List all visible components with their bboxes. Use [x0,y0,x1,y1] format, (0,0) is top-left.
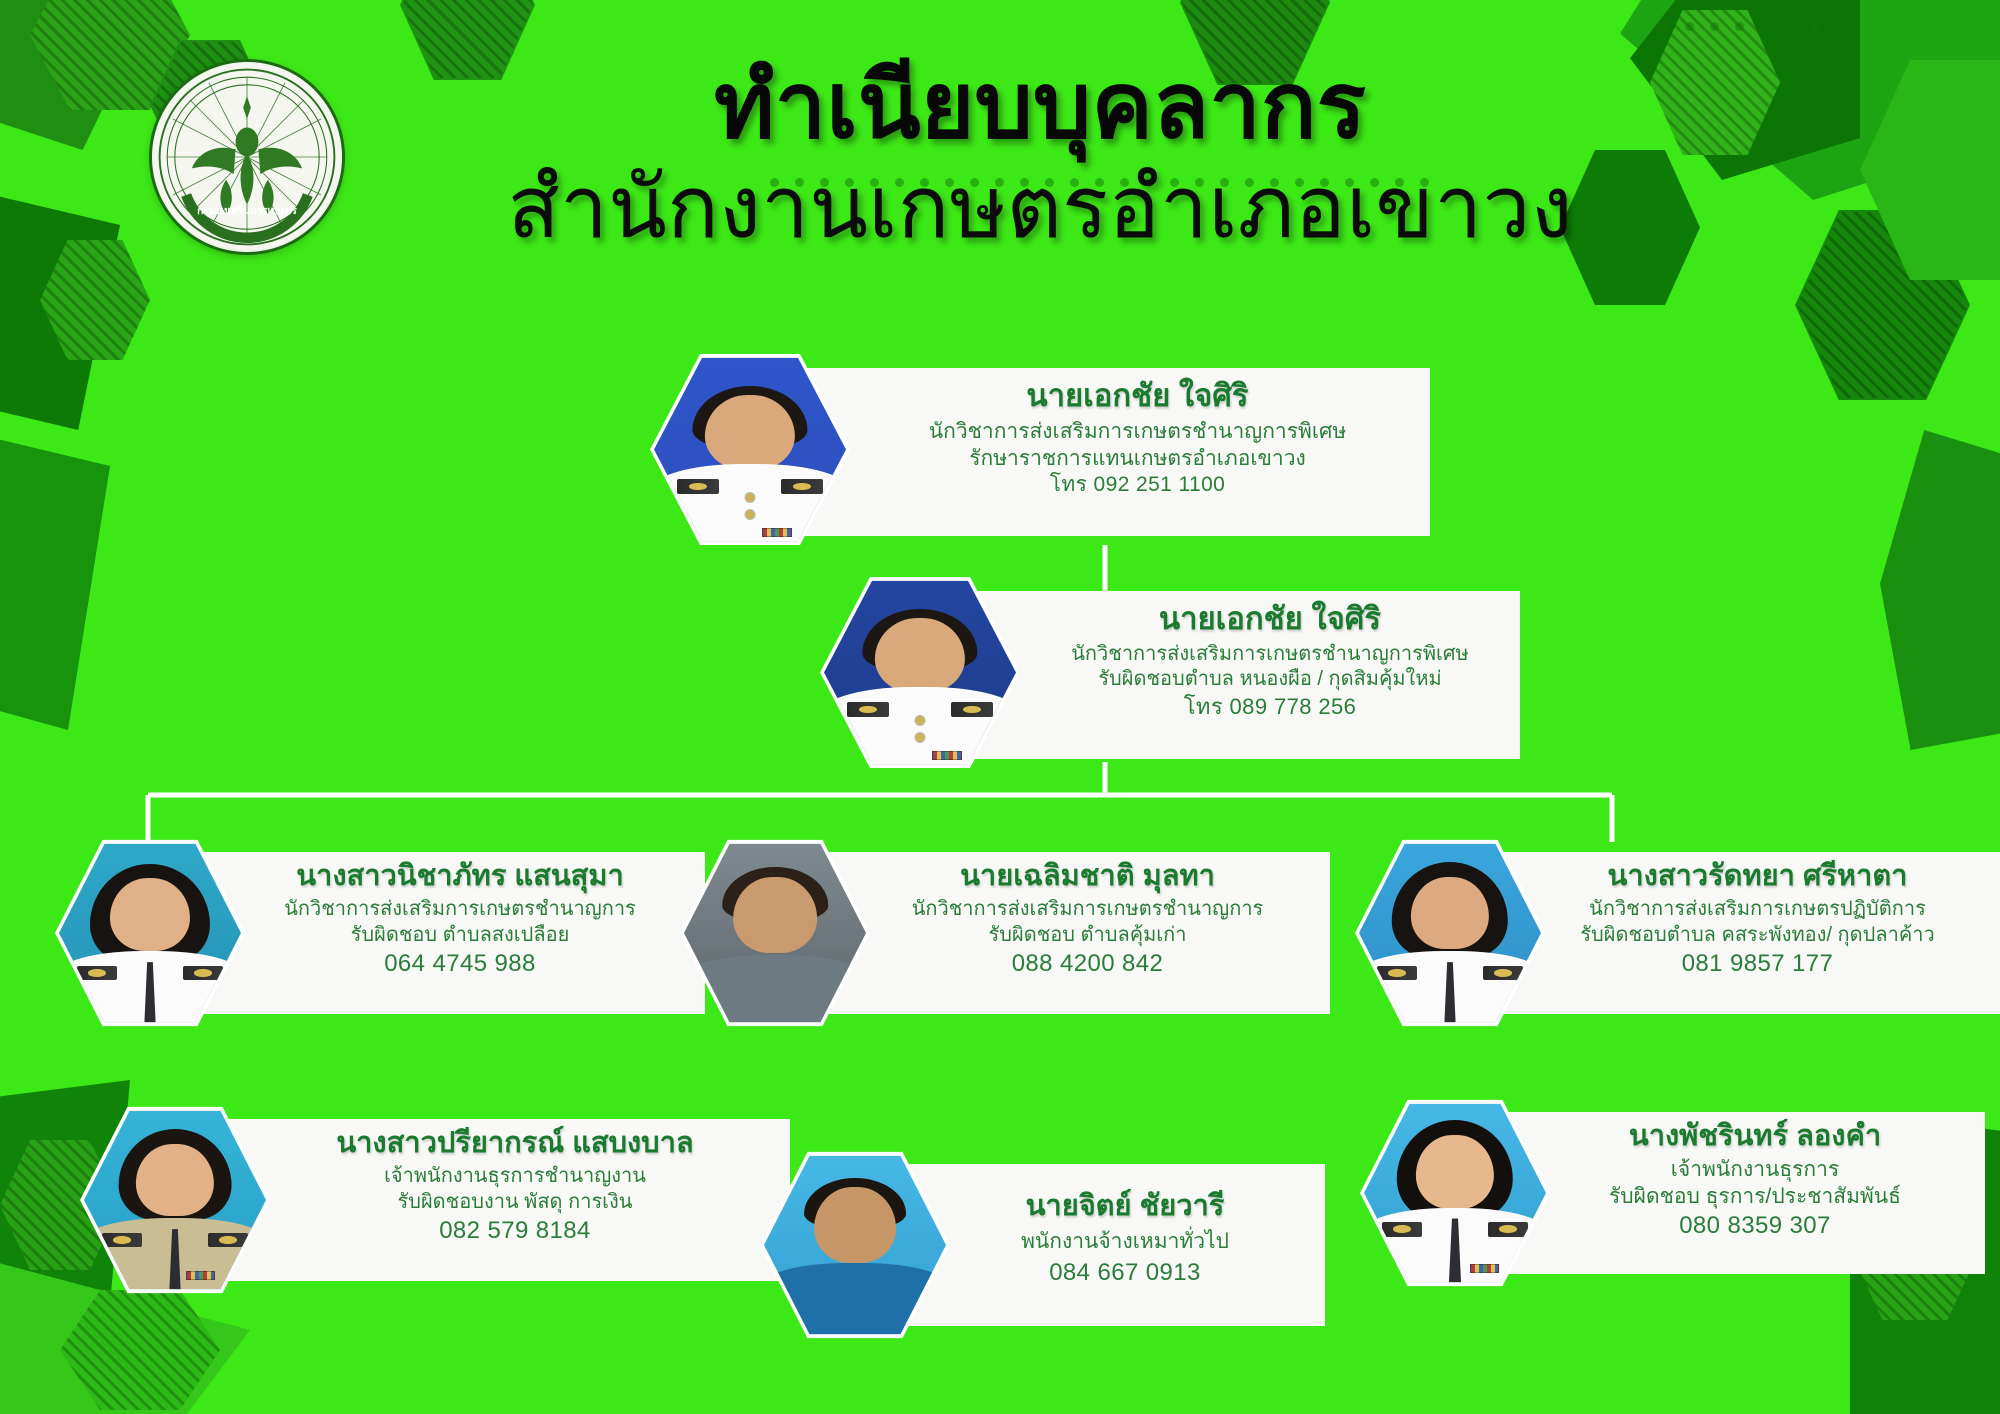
person-name: นางสาวปรียากรณ์ แสบงบาล [260,1127,770,1160]
person-area: รับผิดชอบ ตำบลคุ้มเก่า [860,923,1315,949]
person-name: นางสาวรัดทยา ศรีหาตา [1535,860,1980,893]
doae-emblem-icon: กรมส่งเสริมการเกษตร [152,62,342,252]
person-area: รับผิดชอบงาน พัสดุ การเงิน [260,1190,770,1216]
card-text: นายเฉลิมชาติ มุลทา นักวิชาการส่งเสริมการ… [860,860,1315,979]
person-phone: โทร 089 778 256 [1035,693,1505,721]
page-title: ทำเนียบบุคลากร [380,58,1700,155]
person-card-director[interactable]: นายเอกชัย ใจศิริ นักวิชาการส่งเสริมการเก… [650,352,1430,547]
person-name: นางสาวนิชาภัทร แสนสุมา [235,860,685,893]
person-card-officer-2[interactable]: นายเฉลิมชาติ มุลทา นักวิชาการส่งเสริมการ… [680,838,1325,1028]
card-text: นางสาวปรียากรณ์ แสบงบาล เจ้าพนักงานธุรกา… [260,1127,770,1246]
bg-shape-left-mid [0,430,110,730]
person-role: นักวิชาการส่งเสริมการเกษตรปฏิบัติการ [1535,897,1980,923]
title-block: ทำเนียบบุคลากร สำนักงานเกษตรอำเภอเขาวง [380,58,1700,255]
person-role: พนักงานจ้างเหมาทั่วไป [940,1229,1310,1256]
person-card-officer-3[interactable]: นางสาวรัดทยา ศรีหาตา นักวิชาการส่งเสริมก… [1355,838,1975,1028]
person-name: นายเฉลิมชาติ มุลทา [860,860,1315,893]
page-subtitle: สำนักงานเกษตรอำเภอเขาวง [380,161,1700,256]
person-phone: 088 4200 842 [860,949,1315,980]
card-text: นายเอกชัย ใจศิริ นักวิชาการส่งเสริมการเก… [1035,601,1505,721]
person-card-staff-3[interactable]: นางพัชรินทร์ ลองคำ เจ้าพนักงานธุรการ รับ… [1360,1098,1960,1288]
poster-header: กรมส่งเสริมการเกษตร ทำเนียบบุคลากร สำนัก… [0,0,2000,340]
person-phone: 082 579 8184 [260,1216,770,1247]
card-text: นายเอกชัย ใจศิริ นักวิชาการส่งเสริมการเก… [865,378,1410,499]
card-text: นายจิตย์ ชัยวารี พนักงานจ้างเหมาทั่วไป 0… [940,1190,1310,1289]
person-area: รักษาราชการแทนเกษตรอำเภอเขาวง [865,446,1410,473]
person-phone: 081 9857 177 [1535,949,1980,980]
svg-text:กรมส่งเสริมการเกษตร: กรมส่งเสริมการเกษตร [197,205,297,217]
person-role: เจ้าพนักงานธุรการ [1540,1157,1970,1184]
person-role: นักวิชาการส่งเสริมการเกษตรชำนาญการ [235,897,685,923]
person-card-staff-1[interactable]: นางสาวปรียากรณ์ แสบงบาล เจ้าพนักงานธุรกา… [80,1105,710,1295]
person-area: รับผิดชอบ ตำบลสงเปลือย [235,923,685,949]
card-text: นางสาวรัดทยา ศรีหาตา นักวิชาการส่งเสริมก… [1535,860,1980,979]
person-role: นักวิชาการส่งเสริมการเกษตรชำนาญการพิเศษ [1035,642,1505,668]
person-phone: 064 4745 988 [235,949,685,980]
person-name: นายเอกชัย ใจศิริ [865,378,1410,414]
person-phone: 084 667 0913 [940,1258,1310,1289]
card-text: นางพัชรินทร์ ลองคำ เจ้าพนักงานธุรการ รับ… [1540,1120,1970,1242]
person-name: นายเอกชัย ใจศิริ [1035,601,1505,637]
person-area: รับผิดชอบตำบล คสระพังทอง/ กุดปลาค้าว [1535,923,1980,949]
person-role: นักวิชาการส่งเสริมการเกษตรชำนาญการพิเศษ [865,419,1410,446]
person-role: เจ้าพนักงานธุรการชำนาญงาน [260,1164,770,1190]
person-card-deputy[interactable]: นายเอกชัย ใจศิริ นักวิชาการส่งเสริมการเก… [820,575,1520,770]
person-name: นางพัชรินทร์ ลองคำ [1540,1120,1970,1153]
person-card-staff-2[interactable]: นายจิตย์ ชัยวารี พนักงานจ้างเหมาทั่วไป 0… [760,1150,1325,1340]
person-phone: โทร 092 251 1100 [865,472,1410,499]
person-card-officer-1[interactable]: นางสาวนิชาภัทร แสนสุมา นักวิชาการส่งเสริ… [55,838,655,1028]
person-name: นายจิตย์ ชัยวารี [940,1190,1310,1223]
bg-shape-right-mid [1880,430,2000,750]
person-area: รับผิดชอบ ธุรการ/ประชาสัมพันธ์ [1540,1184,1970,1211]
card-text: นางสาวนิชาภัทร แสนสุมา นักวิชาการส่งเสริ… [235,860,685,979]
person-phone: 080 8359 307 [1540,1211,1970,1242]
person-role: นักวิชาการส่งเสริมการเกษตรชำนาญการ [860,897,1315,923]
person-area: รับผิดชอบตำบล หนองผือ / กุดสิมคุ้มใหม่ [1035,667,1505,693]
